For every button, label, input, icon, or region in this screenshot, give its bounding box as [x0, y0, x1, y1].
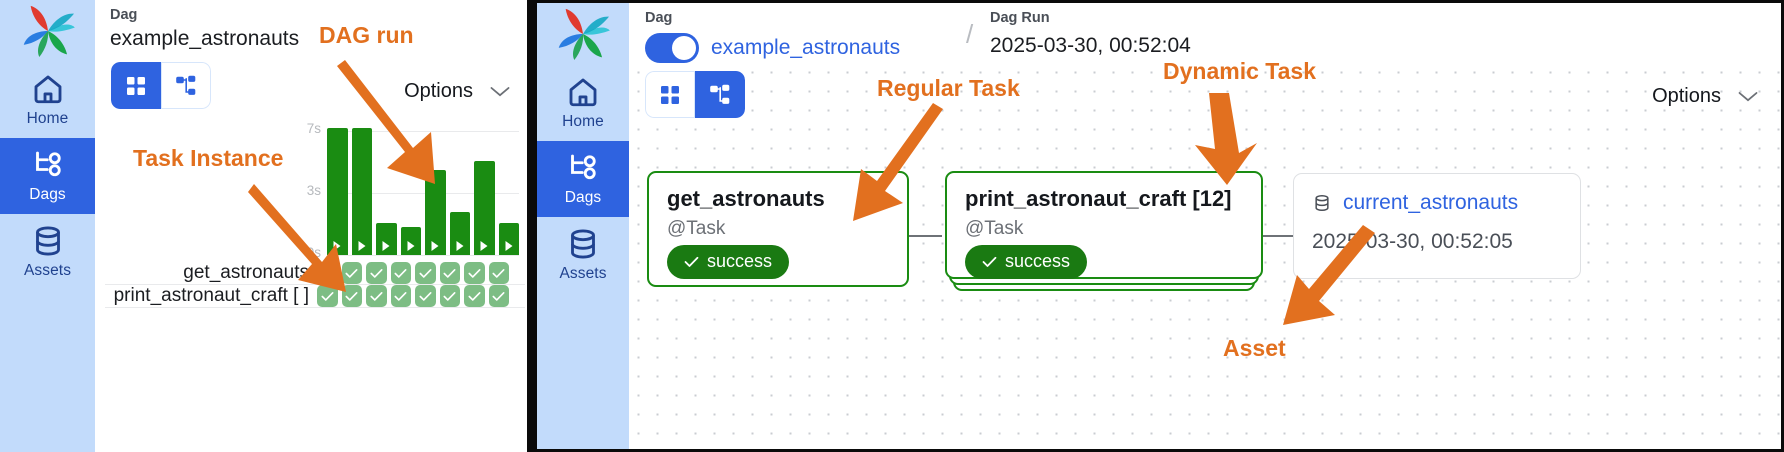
annotation-arrow-regular-task [851, 103, 961, 233]
sidebar-item-assets[interactable]: Assets [0, 214, 95, 290]
graph-view-icon [709, 84, 731, 106]
sidebar-left: Home Dags Assets [0, 0, 95, 452]
left-panel-grid-view: Home Dags Assets [0, 0, 527, 452]
asset-node-header: current_astronauts [1312, 191, 1518, 215]
annotation-arrow-dynamic-task [1185, 91, 1269, 187]
sidebar-item-dags[interactable]: Dags [537, 141, 629, 217]
sidebar-item-home[interactable]: Home [537, 65, 629, 141]
check-icon [443, 291, 456, 302]
graph-edge [907, 235, 942, 237]
airflow-pinwheel-logo[interactable] [0, 0, 95, 62]
play-triangle-icon[interactable] [481, 241, 488, 251]
check-icon [492, 291, 505, 302]
check-icon [394, 268, 407, 279]
task-node-title: print_astronaut_craft [12] [965, 186, 1232, 212]
home-icon [565, 74, 601, 110]
dag-run-timestamp: 2025-03-30, 00:52:04 [990, 34, 1191, 58]
dag-pause-toggle[interactable] [645, 33, 699, 63]
check-icon [468, 268, 481, 279]
sidebar-item-home[interactable]: Home [0, 62, 95, 138]
right-panel-graph-view: Home Dags Assets [534, 0, 1784, 452]
sidebar-item-dags[interactable]: Dags [0, 138, 95, 214]
play-triangle-icon[interactable] [456, 241, 463, 251]
task-instance-cell[interactable] [489, 262, 510, 284]
sidebar-item-assets[interactable]: Assets [537, 217, 629, 293]
options-dropdown[interactable]: Options [1652, 85, 1759, 108]
check-icon [419, 291, 432, 302]
screenshot-root: Home Dags Assets [0, 0, 1784, 452]
play-triangle-icon[interactable] [432, 241, 439, 251]
task-instance-cell[interactable] [489, 285, 510, 307]
bar[interactable] [401, 227, 422, 255]
bar[interactable] [450, 212, 471, 255]
dag-tree-icon [565, 150, 601, 186]
airflow-pinwheel-logo-icon [20, 5, 76, 57]
asset-link[interactable]: current_astronauts [1343, 191, 1518, 215]
play-triangle-icon[interactable] [407, 241, 414, 251]
home-icon [30, 71, 66, 107]
task-node-print-astronaut-craft[interactable]: print_astronaut_craft [12] @Task success [945, 171, 1263, 279]
task-instance-cell[interactable] [391, 285, 412, 307]
airflow-pinwheel-logo[interactable] [537, 3, 629, 65]
breadcrumb-label-dag: Dag [645, 10, 672, 26]
check-icon [419, 268, 432, 279]
graph-view-button[interactable] [695, 71, 745, 118]
play-triangle-icon[interactable] [383, 241, 390, 251]
annotation-arrow-dag-run [335, 52, 465, 192]
bar-slot[interactable] [499, 118, 520, 255]
task-instance-cell[interactable] [440, 285, 461, 307]
dag-tree-icon [30, 147, 66, 183]
check-icon [394, 291, 407, 302]
play-triangle-icon[interactable] [505, 241, 512, 251]
bar[interactable] [499, 223, 520, 255]
chevron-down-icon [1737, 90, 1759, 103]
task-instance-cell[interactable] [464, 262, 485, 284]
bar[interactable] [474, 161, 495, 255]
bar[interactable] [376, 223, 397, 255]
bar-slot[interactable] [474, 118, 495, 255]
right-panel-body: Dag example_astronauts / Dag Run 2025-03… [629, 3, 1781, 449]
task-instance-cell[interactable] [415, 262, 436, 284]
annotation-arrow-asset [1277, 225, 1387, 353]
task-instance-cell[interactable] [464, 285, 485, 307]
task-node-title: get_astronauts [667, 186, 825, 212]
status-badge: success [965, 245, 1087, 279]
toggle-knob [672, 36, 696, 60]
annotation-arrow-task-instance [248, 178, 373, 296]
task-node-subtitle: @Task [667, 218, 725, 240]
check-icon [443, 268, 456, 279]
annotation-regular-task: Regular Task [877, 75, 1020, 102]
database-icon [30, 223, 66, 259]
check-icon [468, 291, 481, 302]
database-icon [1312, 192, 1332, 214]
status-badge-label: success [707, 251, 772, 272]
sidebar-item-label: Home [27, 110, 69, 128]
status-badge-label: success [1005, 251, 1070, 272]
left-panel-body: Dag example_astronauts [95, 0, 527, 452]
task-node-subtitle: @Task [965, 218, 1023, 240]
breadcrumb-label-dag-run: Dag Run [990, 10, 1050, 26]
sidebar-item-label: Dags [29, 186, 66, 204]
dag-breadcrumb-row: example_astronauts [645, 33, 900, 63]
panel-divider [527, 0, 534, 452]
dag-link[interactable]: example_astronauts [711, 36, 900, 60]
grid-view-icon [659, 84, 681, 106]
check-icon [492, 268, 505, 279]
sidebar-item-label: Dags [565, 189, 602, 207]
task-instance-cell[interactable] [415, 285, 436, 307]
breadcrumb-separator: / [966, 19, 973, 50]
check-icon [982, 256, 997, 268]
sidebar-item-label: Home [562, 113, 604, 131]
y-tick-label: 7s [295, 121, 321, 136]
annotation-dynamic-task: Dynamic Task [1163, 58, 1316, 85]
sidebar-item-label: Assets [24, 262, 71, 280]
grid-view-button[interactable] [645, 71, 695, 118]
view-toggle-group [645, 71, 745, 118]
airflow-pinwheel-logo-icon [555, 8, 611, 60]
sidebar-right: Home Dags Assets [537, 3, 629, 449]
database-icon [565, 226, 601, 262]
task-instance-cell[interactable] [391, 262, 412, 284]
sidebar-item-label: Assets [559, 265, 606, 283]
annotation-task-instance: Task Instance [133, 145, 283, 172]
status-badge: success [667, 245, 789, 279]
task-instance-cell[interactable] [440, 262, 461, 284]
check-icon [684, 256, 699, 268]
annotation-dag-run: DAG run [319, 22, 414, 49]
options-label: Options [1652, 85, 1721, 108]
